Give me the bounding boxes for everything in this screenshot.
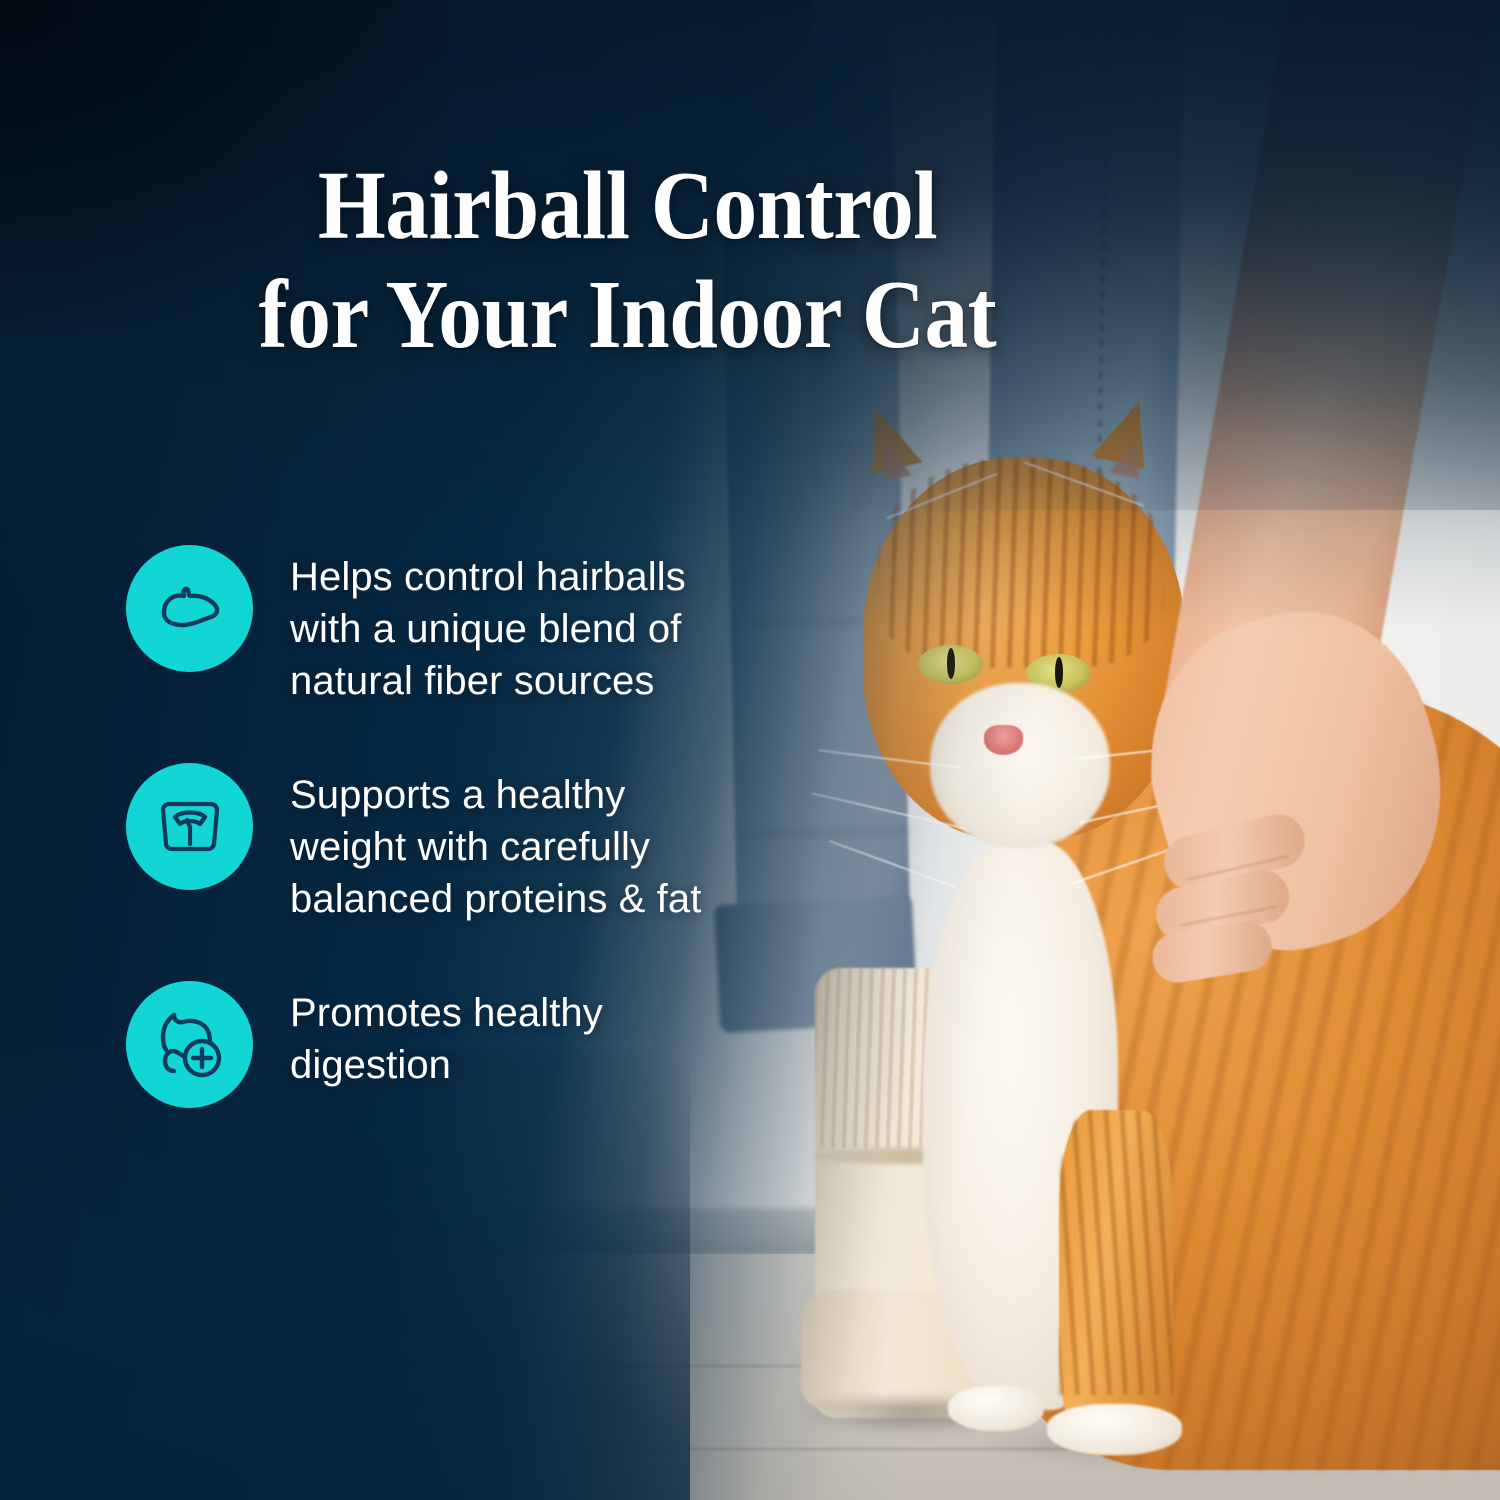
benefit-text: Promotes healthy digestion [290,981,603,1091]
product-feature-banner: Hairball Control for Your Indoor Cat Hel… [0,0,1500,1500]
benefit-item: Helps control hairballs with a unique bl… [126,545,786,707]
hairball-icon [126,545,253,672]
benefit-text: Supports a healthy weight with carefully… [290,763,701,925]
benefit-text: Helps control hairballs with a unique bl… [290,545,686,707]
benefits-list: Helps control hairballs with a unique bl… [126,545,786,1108]
benefit-item: Supports a healthy weight with carefully… [126,763,786,925]
weight-scale-icon [126,763,253,890]
stomach-plus-icon [126,981,253,1108]
benefit-item: Promotes healthy digestion [126,981,786,1108]
page-title: Hairball Control for Your Indoor Cat [63,152,1193,369]
navy-overlay-bottom-left [0,1050,690,1500]
